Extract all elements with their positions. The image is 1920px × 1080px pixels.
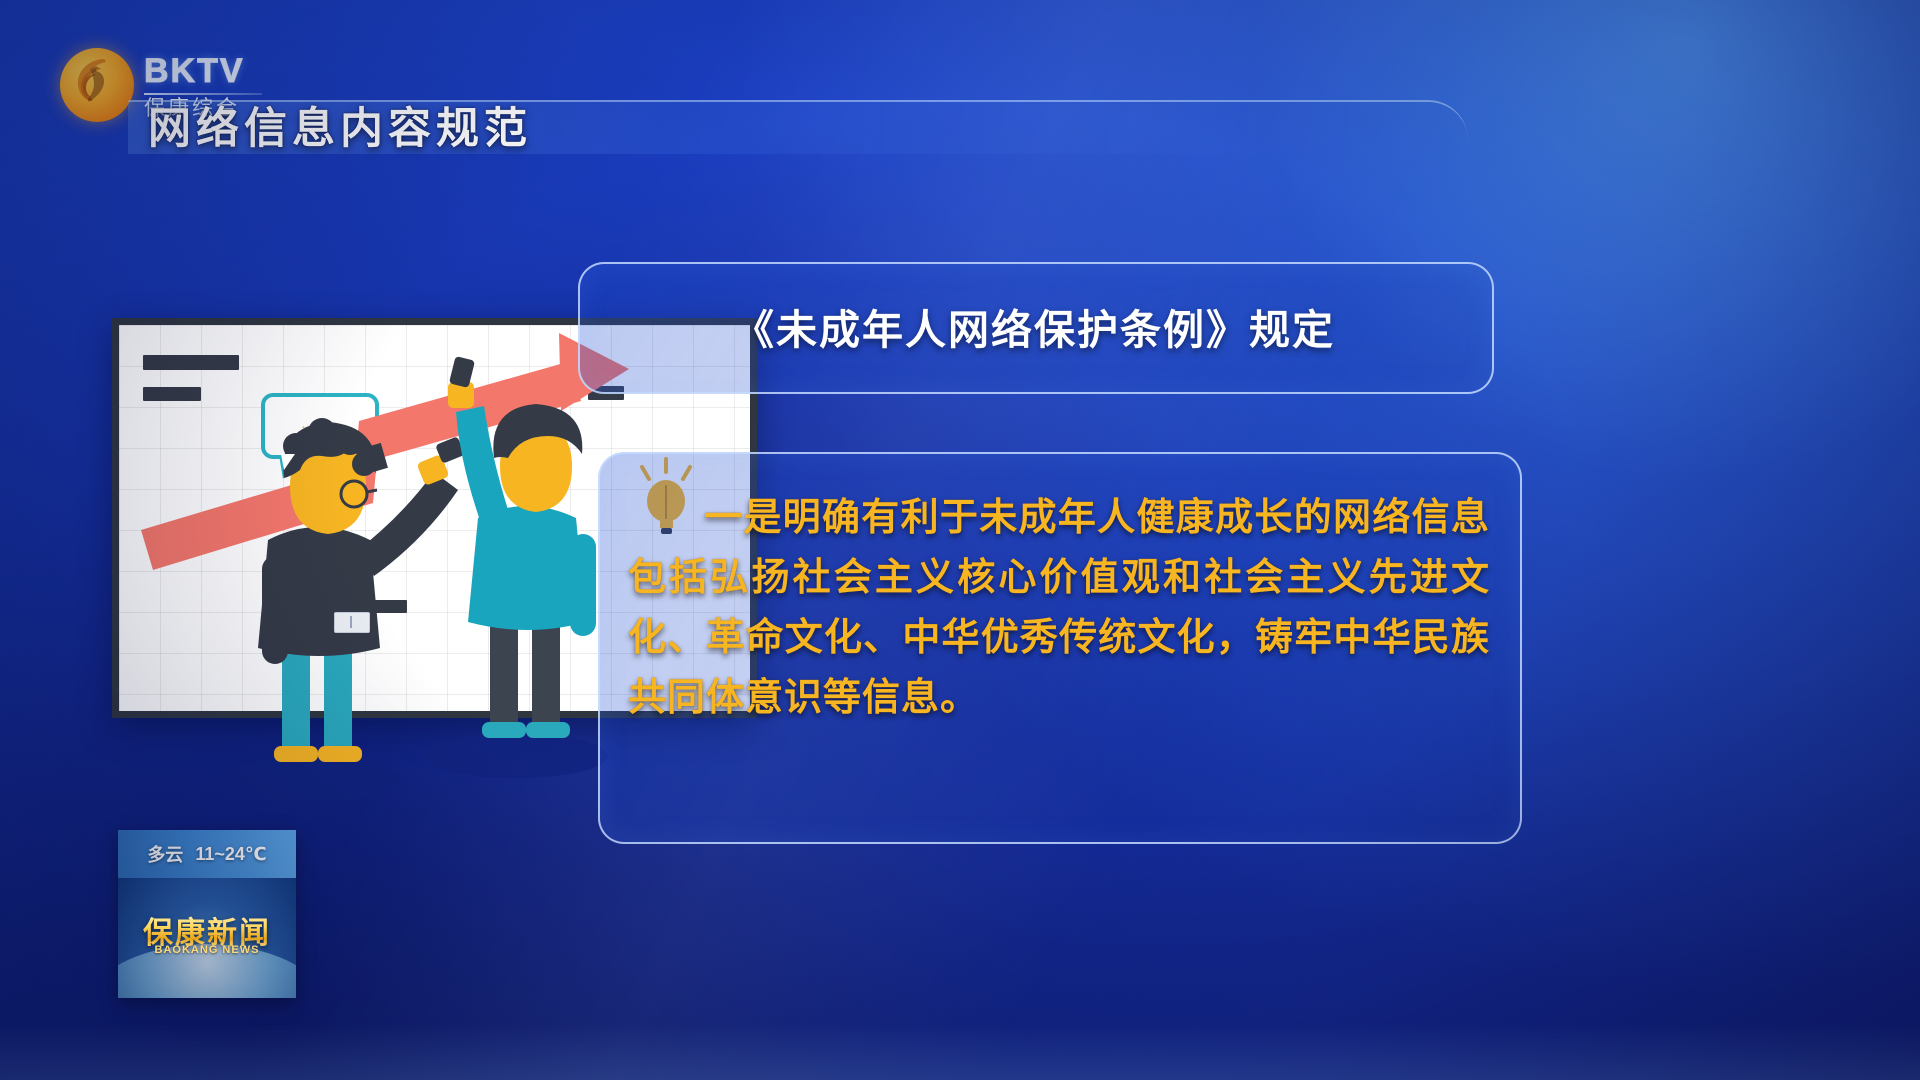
weather-temperature: 11~24℃: [195, 844, 266, 865]
weather-condition: 多云: [147, 841, 183, 867]
figure-shadow: [216, 758, 400, 802]
program-name-en: BAOKANG NEWS: [118, 944, 296, 956]
page-title: 网络信息内容规范: [148, 98, 532, 160]
broadcast-frame: BKTV 保康综合 网络信息内容规范 ···: [0, 0, 1920, 1080]
logo-divider: [144, 93, 262, 95]
weather-strip: 多云 11~24℃: [118, 830, 296, 878]
figure-shadow: [424, 734, 608, 778]
eraser-icon: [334, 612, 370, 633]
phoenix-icon: [60, 48, 134, 122]
regulation-body: 一是明确有利于未成年人健康成长的网络信息包括弘扬社会主义核心价值观和社会主义先进…: [628, 488, 1490, 728]
program-logo: 保康新闻 BAOKANG NEWS: [118, 878, 296, 998]
person-right: [448, 356, 596, 738]
regulation-body-paragraph: 一是明确有利于未成年人健康成长的网络信息包括弘扬社会主义核心价值观和社会主义先进…: [628, 488, 1490, 728]
channel-callsign: BKTV: [144, 54, 262, 88]
station-bug: 多云 11~24℃ 保康新闻 BAOKANG NEWS: [118, 830, 296, 998]
bottom-glow: [0, 1024, 1920, 1080]
regulation-title: 《未成年人网络保护条例》规定: [578, 262, 1490, 390]
